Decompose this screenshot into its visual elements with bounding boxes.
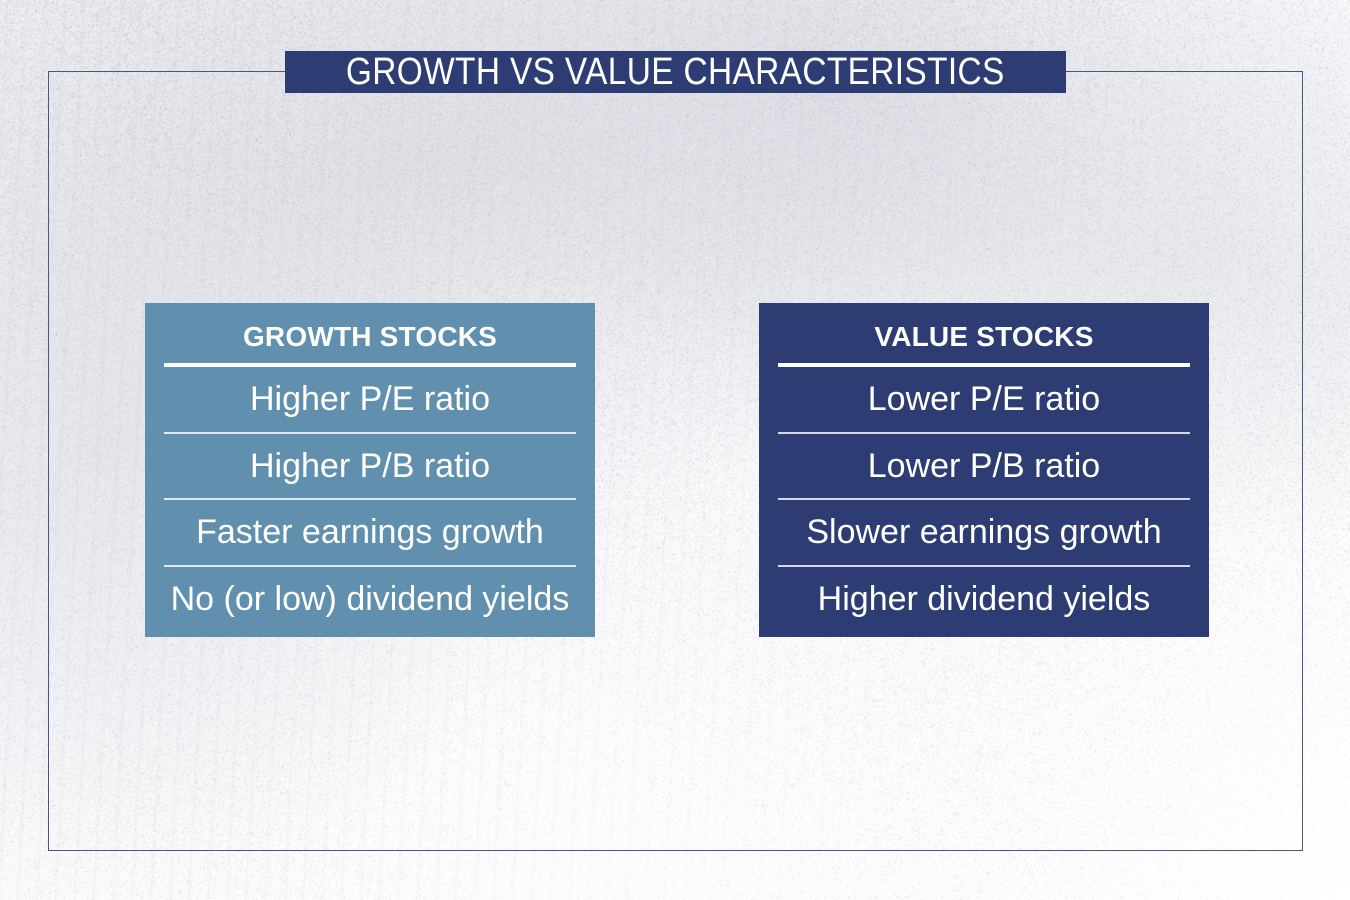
value-row-0: Lower P/E ratio [759, 367, 1209, 432]
value-row-3: Higher dividend yields [759, 567, 1209, 632]
growth-row-1: Higher P/B ratio [145, 434, 595, 499]
value-stocks-card: VALUE STOCKS Lower P/E ratio Lower P/B r… [759, 303, 1209, 637]
growth-stocks-card: GROWTH STOCKS Higher P/E ratio Higher P/… [145, 303, 595, 637]
value-row-2: Slower earnings growth [759, 500, 1209, 565]
growth-row-3: No (or low) dividend yields [145, 567, 595, 632]
value-stocks-card-header: VALUE STOCKS [759, 313, 1209, 363]
page-title: GROWTH VS VALUE CHARACTERISTICS [346, 53, 1005, 91]
value-row-1: Lower P/B ratio [759, 434, 1209, 499]
growth-row-0: Higher P/E ratio [145, 367, 595, 432]
growth-row-2: Faster earnings growth [145, 500, 595, 565]
title-banner: GROWTH VS VALUE CHARACTERISTICS [285, 51, 1066, 93]
growth-stocks-card-header: GROWTH STOCKS [145, 313, 595, 363]
